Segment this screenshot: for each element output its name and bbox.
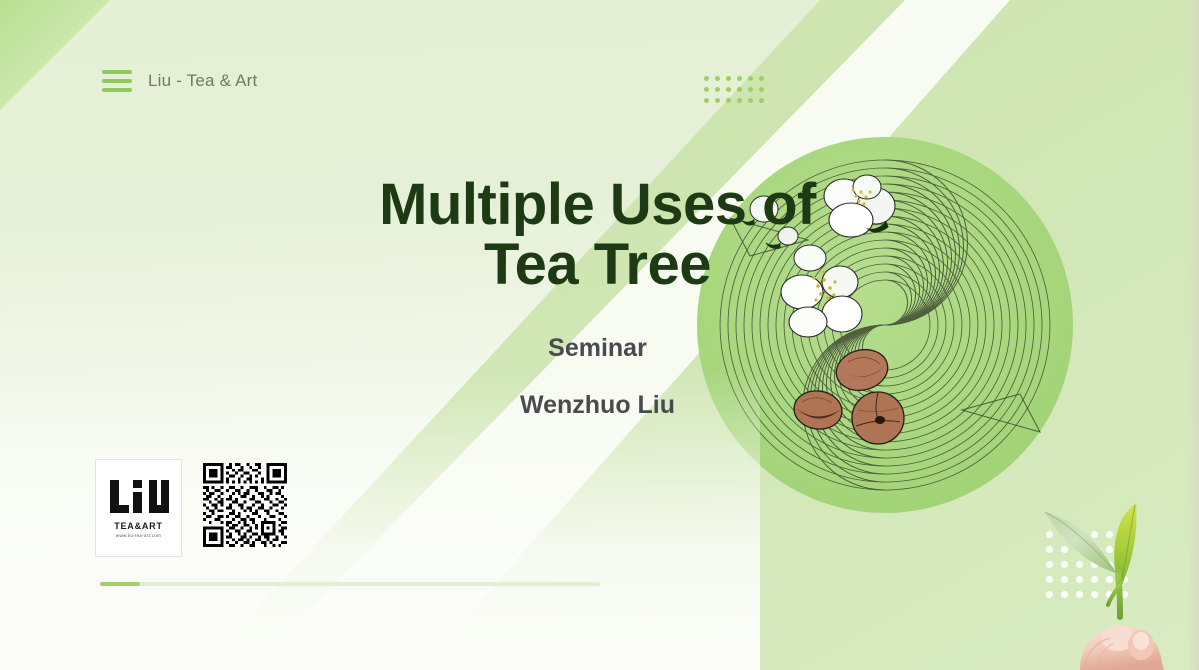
qr-code[interactable] (203, 463, 287, 547)
logo-url: www.liu-tea-art.com (116, 533, 161, 538)
brand-label: Liu - Tea & Art (148, 71, 257, 91)
progress-bar[interactable] (100, 582, 600, 586)
presentation-slide: Liu - Tea & Art Multiple Uses of Tea Tre… (0, 0, 1199, 670)
page-title-line-1: Multiple Uses of (190, 175, 1005, 235)
slide-header: Liu - Tea & Art (102, 70, 257, 92)
liu-logo-icon (108, 478, 170, 518)
page-title: Multiple Uses of Tea Tree (190, 175, 1005, 295)
right-edge-shadow (1189, 0, 1199, 670)
progress-bar-fill (100, 582, 140, 586)
subtitle: Seminar (190, 334, 1005, 363)
brand-logo: TEA&ART www.liu-tea-art.com (95, 459, 182, 557)
hand-holding-tea-sprig-icon (1040, 485, 1199, 670)
logo-tagline: TEA&ART (114, 521, 163, 531)
page-title-line-2: Tea Tree (190, 235, 1005, 295)
hamburger-menu-icon[interactable] (102, 70, 132, 92)
presenter-name: Wenzhuo Liu (190, 391, 1005, 420)
dot-grid-icon-top (704, 76, 770, 109)
